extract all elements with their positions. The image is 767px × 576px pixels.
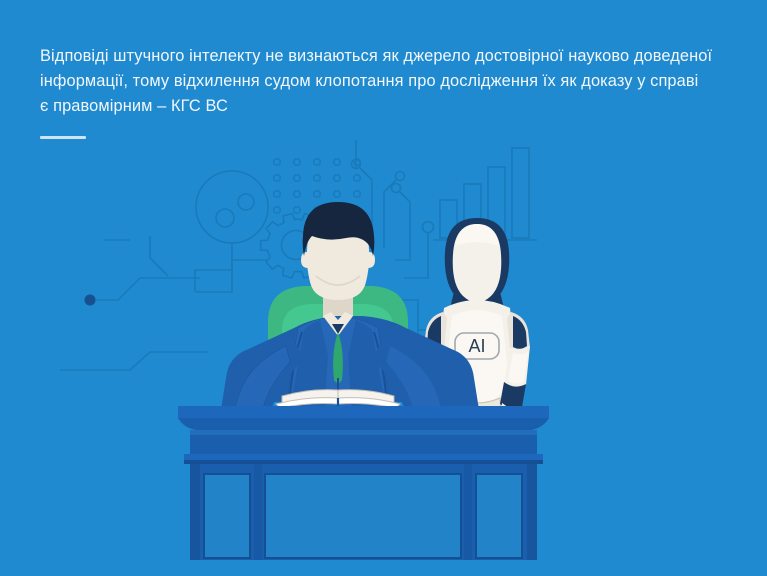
page-title: Відповіді штучного інтелекту не визнають… <box>40 44 730 119</box>
title-underline-rule <box>40 136 86 139</box>
ai-badge-label: AI <box>468 336 485 356</box>
slide-canvas: Відповіді штучного інтелекту не визнають… <box>0 0 767 576</box>
headline-block: Відповіді штучного інтелекту не визнають… <box>40 44 730 119</box>
judge-bench-desk <box>178 406 549 560</box>
illustration: AI <box>0 140 767 560</box>
circuit-traces-left <box>60 236 268 370</box>
